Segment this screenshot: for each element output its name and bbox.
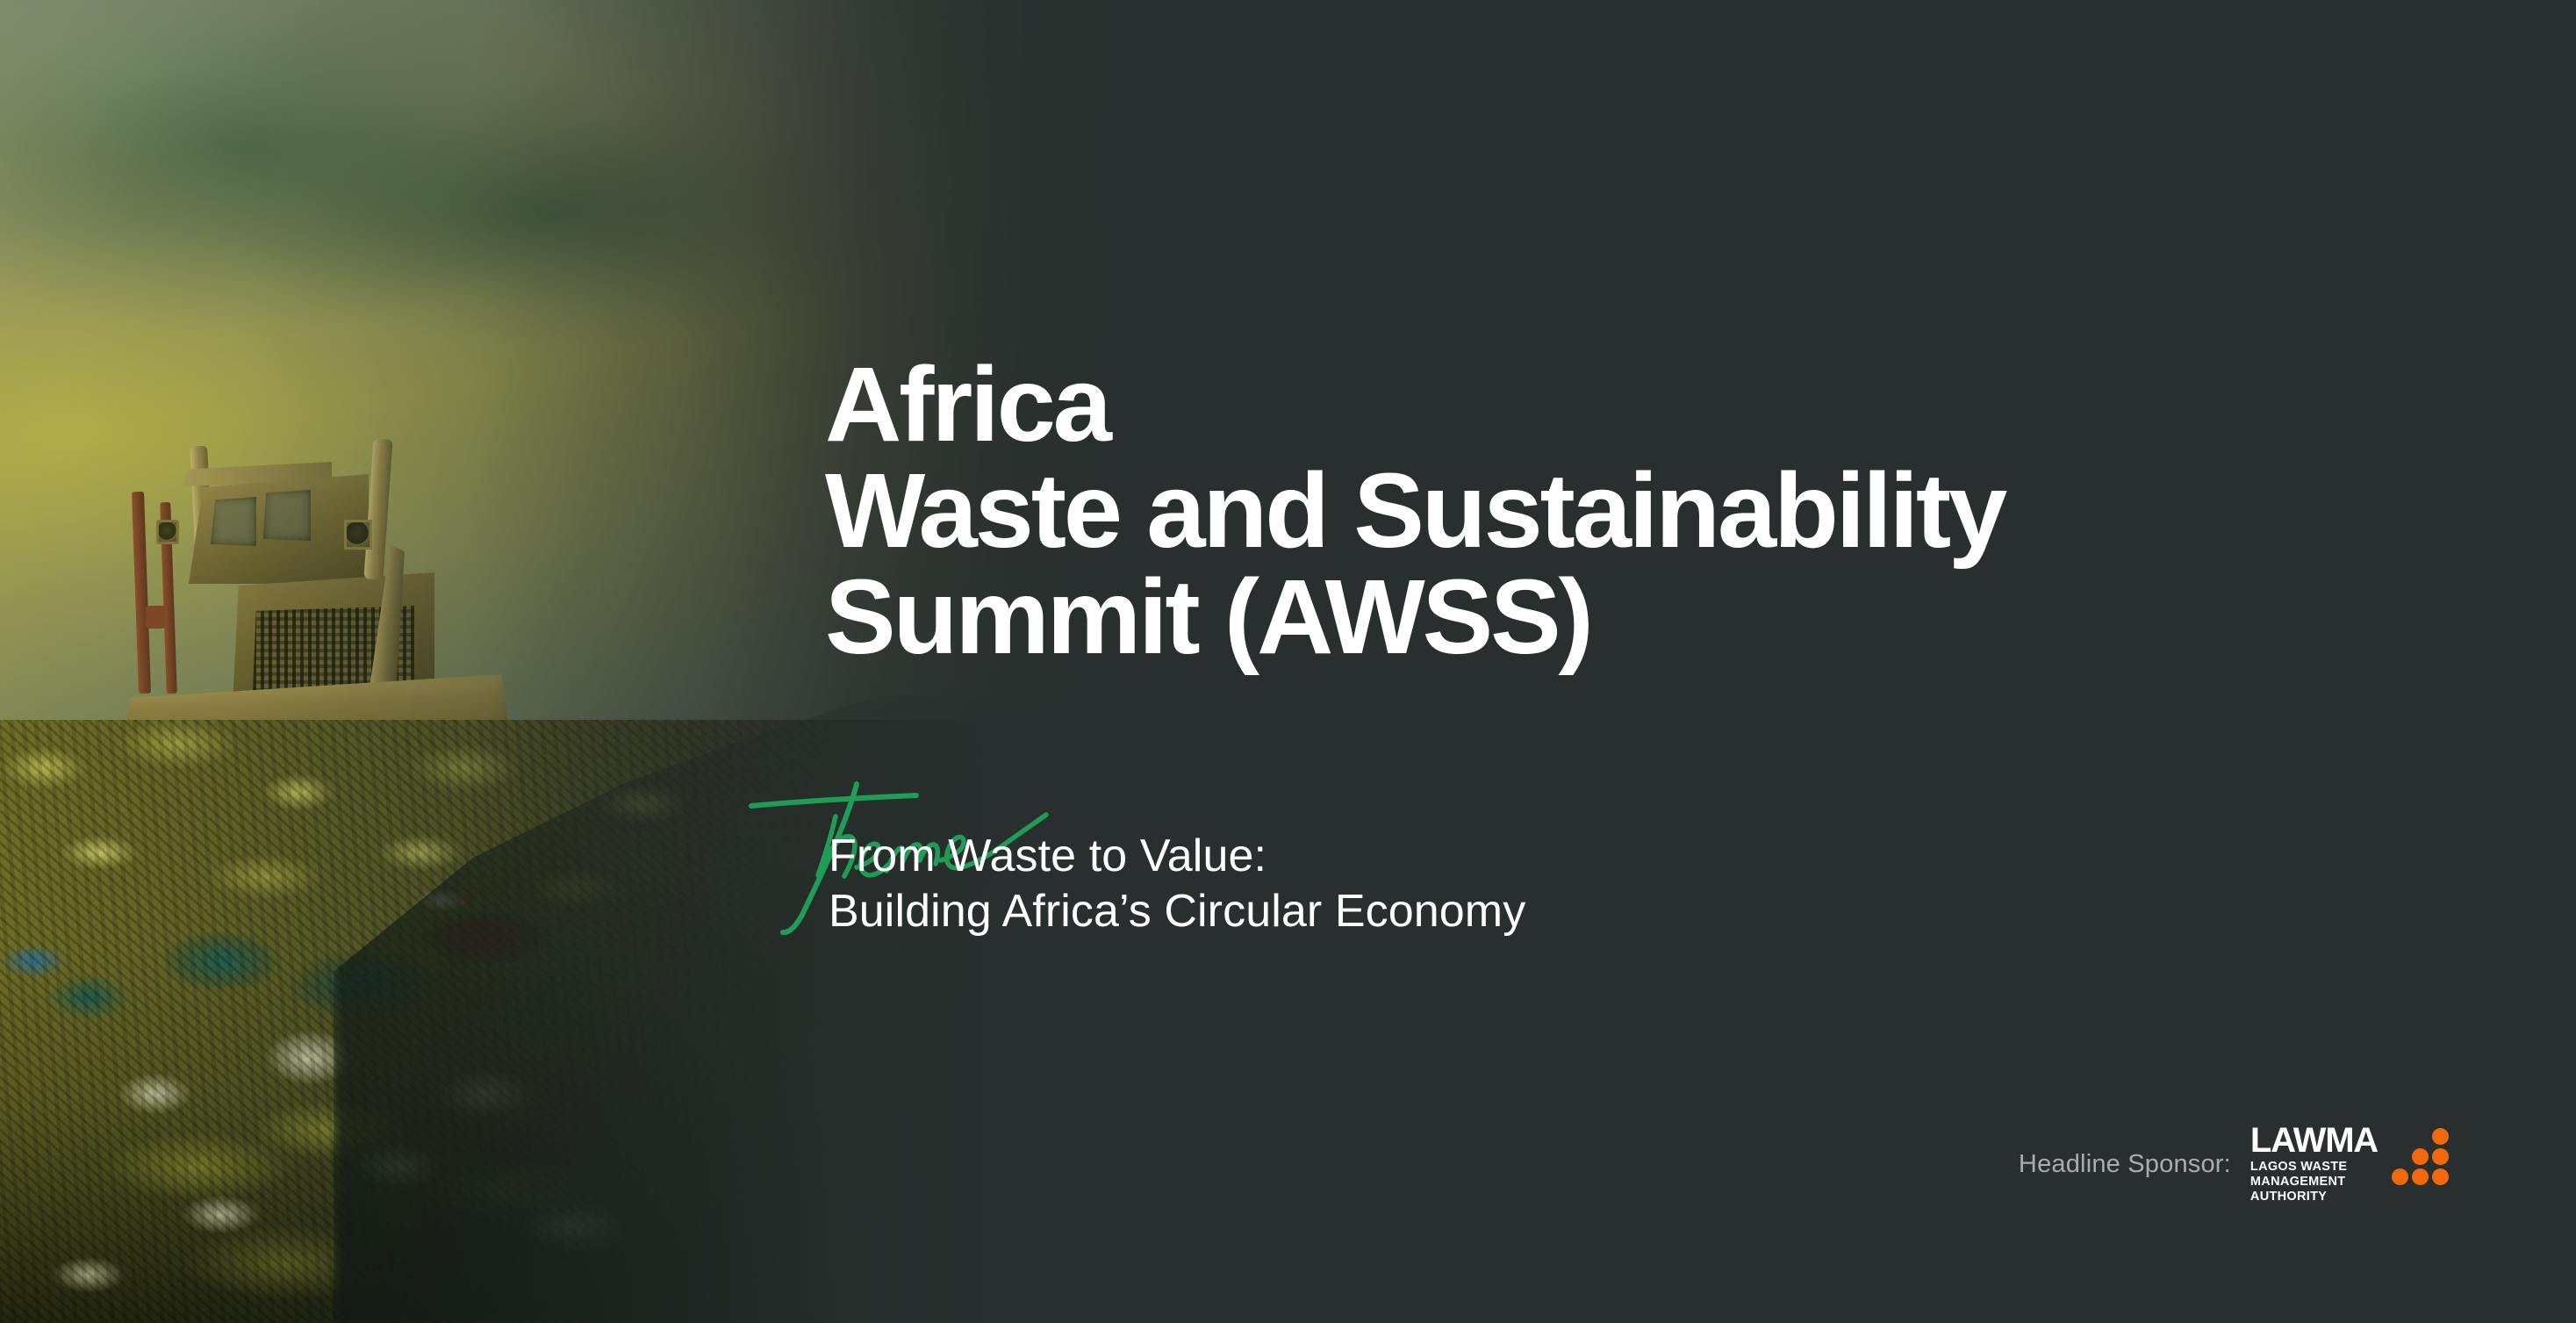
lawma-dot-empty bbox=[2412, 1128, 2429, 1145]
lawma-wordmark: LAWMA bbox=[2250, 1125, 2378, 1157]
lawma-dot-empty bbox=[2392, 1148, 2408, 1165]
lawma-dot bbox=[2432, 1168, 2449, 1185]
lawma-dot bbox=[2392, 1168, 2408, 1185]
sponsor-label: Headline Sponsor: bbox=[2019, 1150, 2231, 1179]
lawma-subtext: LAGOS WASTE MANAGEMENT AUTHORITY bbox=[2250, 1160, 2378, 1204]
page-title: Africa Waste and Sustainability Summit (… bbox=[825, 351, 2317, 670]
lawma-dot bbox=[2432, 1148, 2449, 1165]
lawma-dot-pattern-icon bbox=[2392, 1128, 2449, 1185]
lawma-wordmark-group: LAWMA LAGOS WASTE MANAGEMENT AUTHORITY bbox=[2250, 1125, 2378, 1204]
lawma-dot bbox=[2412, 1168, 2429, 1185]
lawma-dot-empty bbox=[2392, 1128, 2408, 1145]
lawma-dot bbox=[2412, 1148, 2429, 1165]
theme-block: From Waste to Value: Building Africa’s C… bbox=[744, 776, 1797, 978]
theme-subtitle: From Waste to Value: Building Africa’s C… bbox=[829, 829, 1525, 940]
headline-sponsor-block: Headline Sponsor: LAWMA LAGOS WASTE MANA… bbox=[2019, 1125, 2449, 1204]
lawma-logo: LAWMA LAGOS WASTE MANAGEMENT AUTHORITY bbox=[2250, 1125, 2449, 1204]
presentation-slide: Africa Waste and Sustainability Summit (… bbox=[0, 0, 2576, 1323]
lawma-dot bbox=[2432, 1128, 2449, 1145]
